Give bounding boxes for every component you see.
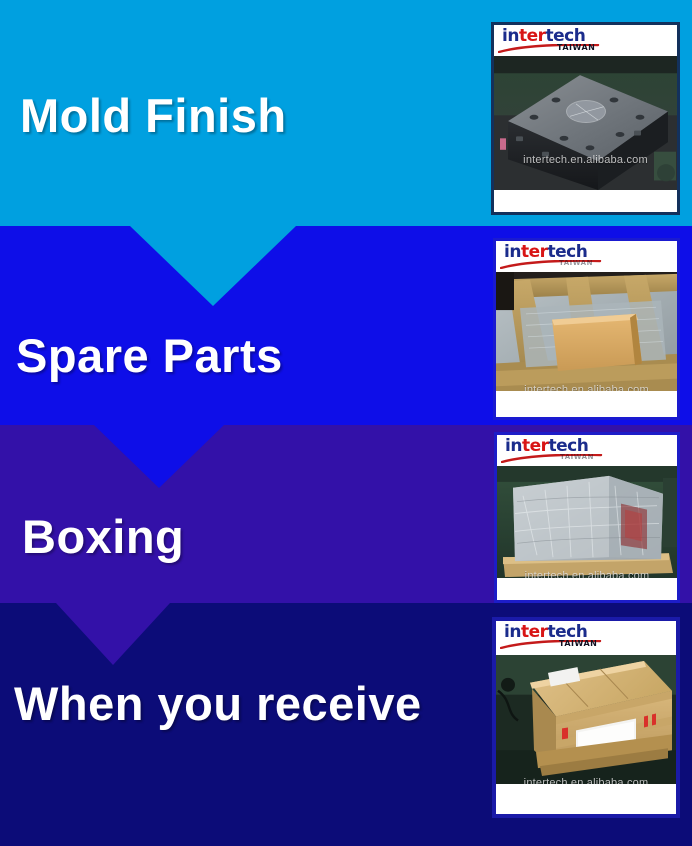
logo-subtitle-taiwan: TAIWAN: [560, 453, 594, 461]
photo-boxing: intertech.en.alibaba.com: [497, 466, 677, 578]
photo-frame-spare-parts: intertech TAIWAN: [493, 238, 680, 420]
logo-subtitle-taiwan: TAIWAN: [559, 259, 593, 267]
step-label-spare-parts: Spare Parts: [16, 332, 283, 379]
photo-frame-boxing: intertech TAIWAN: [494, 432, 680, 603]
brand-logo-strip: intertech TAIWAN: [497, 435, 677, 466]
photo-caption-pad: [496, 784, 676, 814]
brand-logo-strip: intertech TAIWAN: [494, 25, 677, 56]
photo-caption-pad: [494, 190, 677, 212]
photo-mold-finish: intertech.en.alibaba.com: [494, 56, 677, 190]
photo-caption-pad: [497, 578, 677, 600]
photo-frame-when-you-receive: intertech TAIWAN: [492, 617, 680, 818]
step-label-boxing: Boxing: [22, 513, 184, 560]
brand-logo-strip: intertech TAIWAN: [496, 621, 676, 655]
logo-subtitle-taiwan: TAIWAN: [557, 43, 595, 52]
brand-logo-strip: intertech TAIWAN: [496, 241, 677, 272]
process-steps-banner: Mold Finish Spare Parts Boxing When you …: [0, 0, 692, 846]
photo-caption-pad: [496, 391, 677, 417]
step-label-when-you-receive: When you receive: [14, 680, 422, 727]
photo-frame-mold-finish: intertech TAIWAN: [491, 22, 680, 215]
photo-when-you-receive: intertech.en.alibaba.com: [496, 655, 676, 784]
step-label-mold-finish: Mold Finish: [20, 92, 287, 139]
photo-spare-parts: intertech.en.alibaba.com: [496, 272, 677, 391]
logo-subtitle-taiwan: TAIWAN: [559, 639, 597, 648]
